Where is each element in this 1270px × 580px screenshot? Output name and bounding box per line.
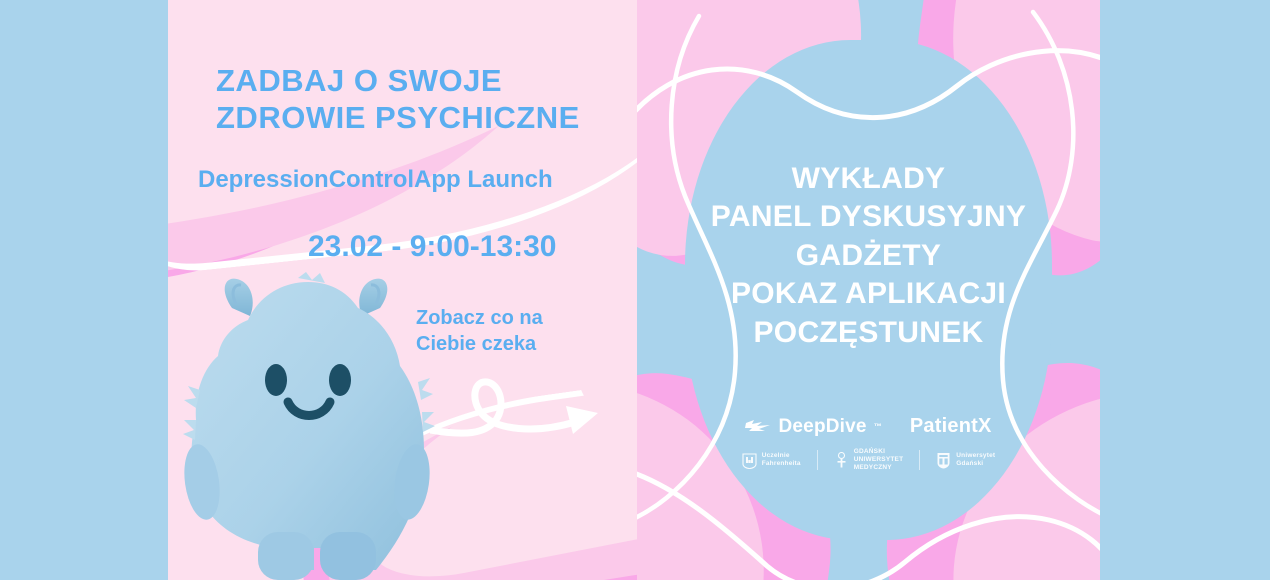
deepdive-logo: DeepDive ™ [745,416,881,438]
agenda-item: WYKŁADY [637,160,1100,198]
university-logo-gumed: GDAŃSKI UNIWERSYTET MEDYCZNY [818,448,920,472]
deepdive-logo-icon [745,419,771,434]
tagline: Zobacz co na Ciebie czeka [416,305,616,357]
curly-arrow-right-icon [430,358,620,468]
headline-line-1: ZADBAJ O SWOJE [216,62,636,99]
agenda-item: GADŻETY [637,237,1100,275]
left-slide-panel: ZADBAJ O SWOJE ZDROWIE PSYCHICZNE Depres… [168,0,638,580]
agenda-list: WYKŁADY PANEL DYSKUSYJNY GADŻETY POKAZ A… [637,160,1100,352]
page-title: ZADBAJ O SWOJE ZDROWIE PSYCHICZNE [216,62,636,136]
tagline-line-1: Zobacz co na [416,305,616,331]
university-logo-ug: Uniwersytet Gdański [920,452,1011,469]
blue-monster-mascot-icon [180,270,440,580]
patientx-logo: PatientX [910,415,992,438]
uczelnie-fahrenheita-crest-icon [742,452,757,469]
headline-line-2: ZDROWIE PSYCHICZNE [216,99,636,136]
subheadline: DepressionControlApp Launch [198,166,638,194]
tagline-line-2: Ciebie czeka [416,331,616,357]
deepdive-trademark: ™ [874,422,882,431]
university-logo-uczelnie-fahrenheita: Uczelnie Fahrenheita [726,452,817,469]
uczelnie-fahrenheita-label: Uczelnie Fahrenheita [762,452,801,468]
gumed-label: GDAŃSKI UNIWERSYTET MEDYCZNY [854,448,904,472]
deepdive-label: DeepDive [778,416,866,438]
brand-logo-row: DeepDive ™ PatientX [637,415,1100,438]
university-logo-row: Uczelnie Fahrenheita GDAŃSKI UNIWERSYTET… [637,448,1100,472]
agenda-item: PANEL DYSKUSYJNY [637,198,1100,236]
event-datetime: 23.02 - 9:00-13:30 [308,230,638,264]
agenda-item: POKAZ APLIKACJI [637,275,1100,313]
right-slide-panel: WYKŁADY PANEL DYSKUSYJNY GADŻETY POKAZ A… [637,0,1100,580]
agenda-item: POCZĘSTUNEK [637,314,1100,352]
gumed-crest-icon [834,452,849,469]
poster-canvas: ZADBAJ O SWOJE ZDROWIE PSYCHICZNE Depres… [0,0,1270,580]
ug-crest-icon [936,452,951,469]
ug-label: Uniwersytet Gdański [956,452,995,468]
